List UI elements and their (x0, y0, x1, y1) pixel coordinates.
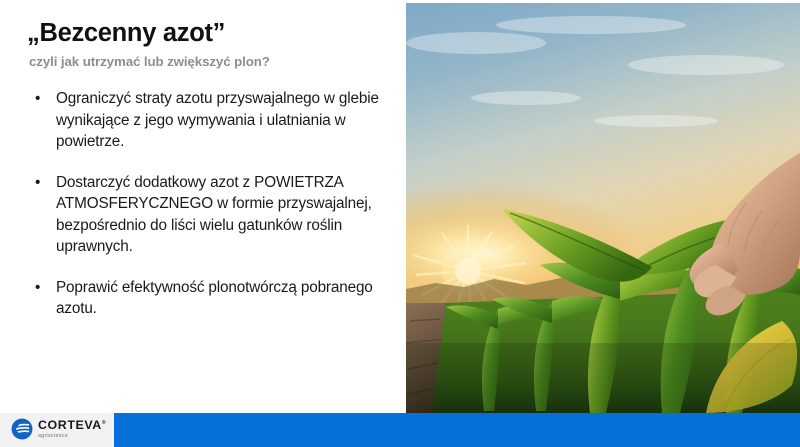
page-subtitle: czyli jak utrzymać lub zwiększyć plon? (29, 54, 270, 69)
footer-accent-bar (114, 413, 800, 447)
bullet-dot-icon: • (35, 172, 40, 194)
slide-footer: CORTEVA® agriscience (0, 413, 800, 447)
list-item: • Dostarczyć dodatkowy azot z POWIETRZA … (28, 172, 398, 258)
list-item: • Poprawić efektywność plonotwórczą pobr… (28, 277, 398, 320)
presentation-slide: „Bezcenny azot” czyli jak utrzymać lub z… (0, 0, 800, 447)
list-item-text: Dostarczyć dodatkowy azot z POWIETRZA AT… (56, 172, 398, 258)
footer-logo-plate: CORTEVA® agriscience (0, 413, 114, 447)
corteva-wordmark: CORTEVA® (38, 419, 106, 431)
corteva-tagline: agriscience (38, 434, 106, 439)
page-title: „Bezcenny azot” (27, 19, 225, 48)
list-item-text: Poprawić efektywność plonotwórczą pobran… (56, 277, 398, 320)
list-item: • Ograniczyć straty azotu przyswajalnego… (28, 88, 398, 153)
bullet-dot-icon: • (35, 88, 40, 110)
bullet-list: • Ograniczyć straty azotu przyswajalnego… (28, 88, 398, 320)
cornfield-sunset-photo (406, 3, 800, 413)
corteva-wordmark-block: CORTEVA® agriscience (38, 419, 106, 439)
corteva-logo: CORTEVA® agriscience (11, 418, 106, 440)
photo-artwork (406, 3, 800, 413)
registered-mark: ® (102, 420, 106, 426)
list-item-text: Ograniczyć straty azotu przyswajalnego w… (56, 88, 398, 153)
corteva-wordmark-text: CORTEVA (38, 418, 102, 432)
corteva-leaf-mark-icon (11, 418, 33, 440)
bullet-dot-icon: • (35, 277, 40, 299)
slide-content-panel: „Bezcenny azot” czyli jak utrzymać lub z… (0, 0, 406, 413)
